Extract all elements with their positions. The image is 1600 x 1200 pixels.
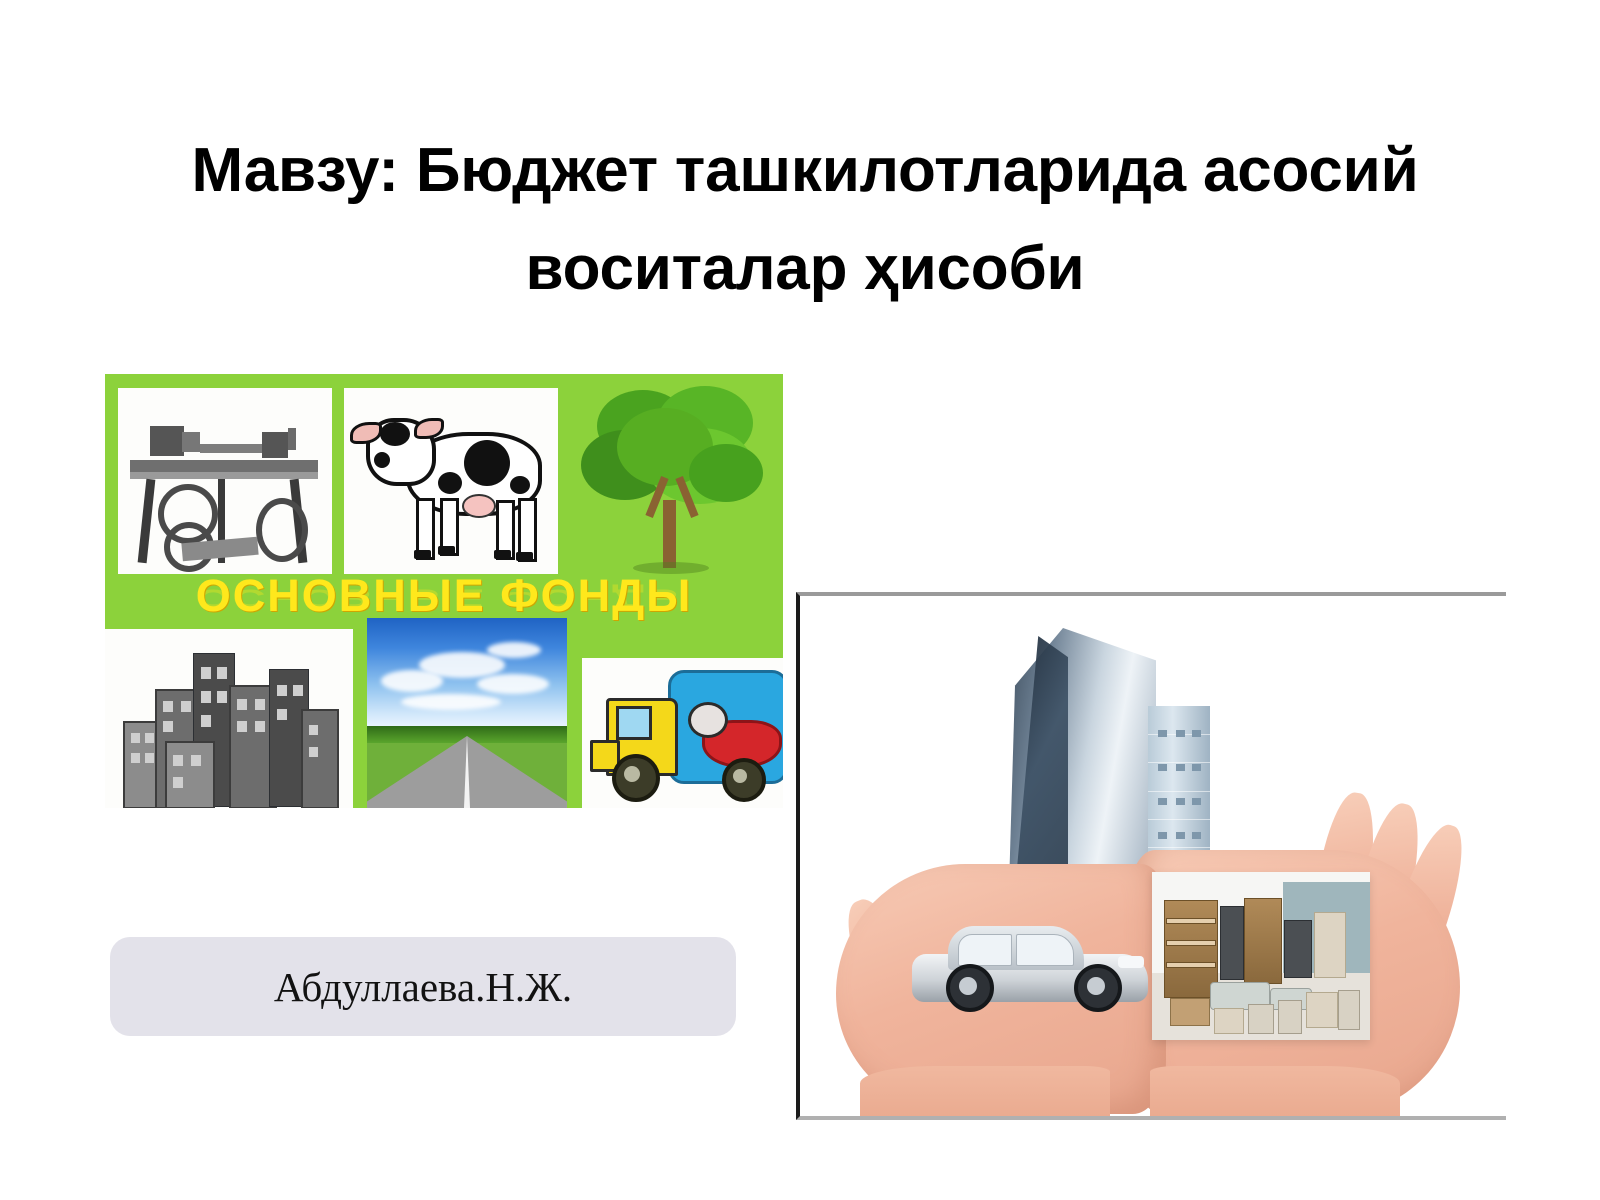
author-name: Абдуллаева.Н.Ж. [274,963,572,1011]
right-wrist [1150,1066,1400,1120]
furnished-room-icon [1152,872,1370,1040]
collage-city-panel [105,629,353,808]
author-box: Абдуллаева.Н.Ж. [110,937,736,1036]
basic-funds-collage: ОСНОВНЫЕ ФОНДЫ ОСНОВНЫЕ ФОНДЫ [105,374,783,808]
photo-canvas [800,596,1506,1116]
collage-cow-panel [344,388,558,574]
car-icon [912,916,1148,1012]
collage-road-panel [367,618,567,808]
collage-machine-panel [118,388,332,574]
assets-in-hands-photo [796,592,1506,1120]
page-title: Мавзу: Бюджет ташкилотларида асосий воси… [110,122,1500,318]
collage-tree-panel [571,382,776,582]
collage-truck-panel [582,658,783,808]
collage-headline: ОСНОВНЫЕ ФОНДЫ [105,570,783,622]
left-wrist [860,1066,1110,1120]
